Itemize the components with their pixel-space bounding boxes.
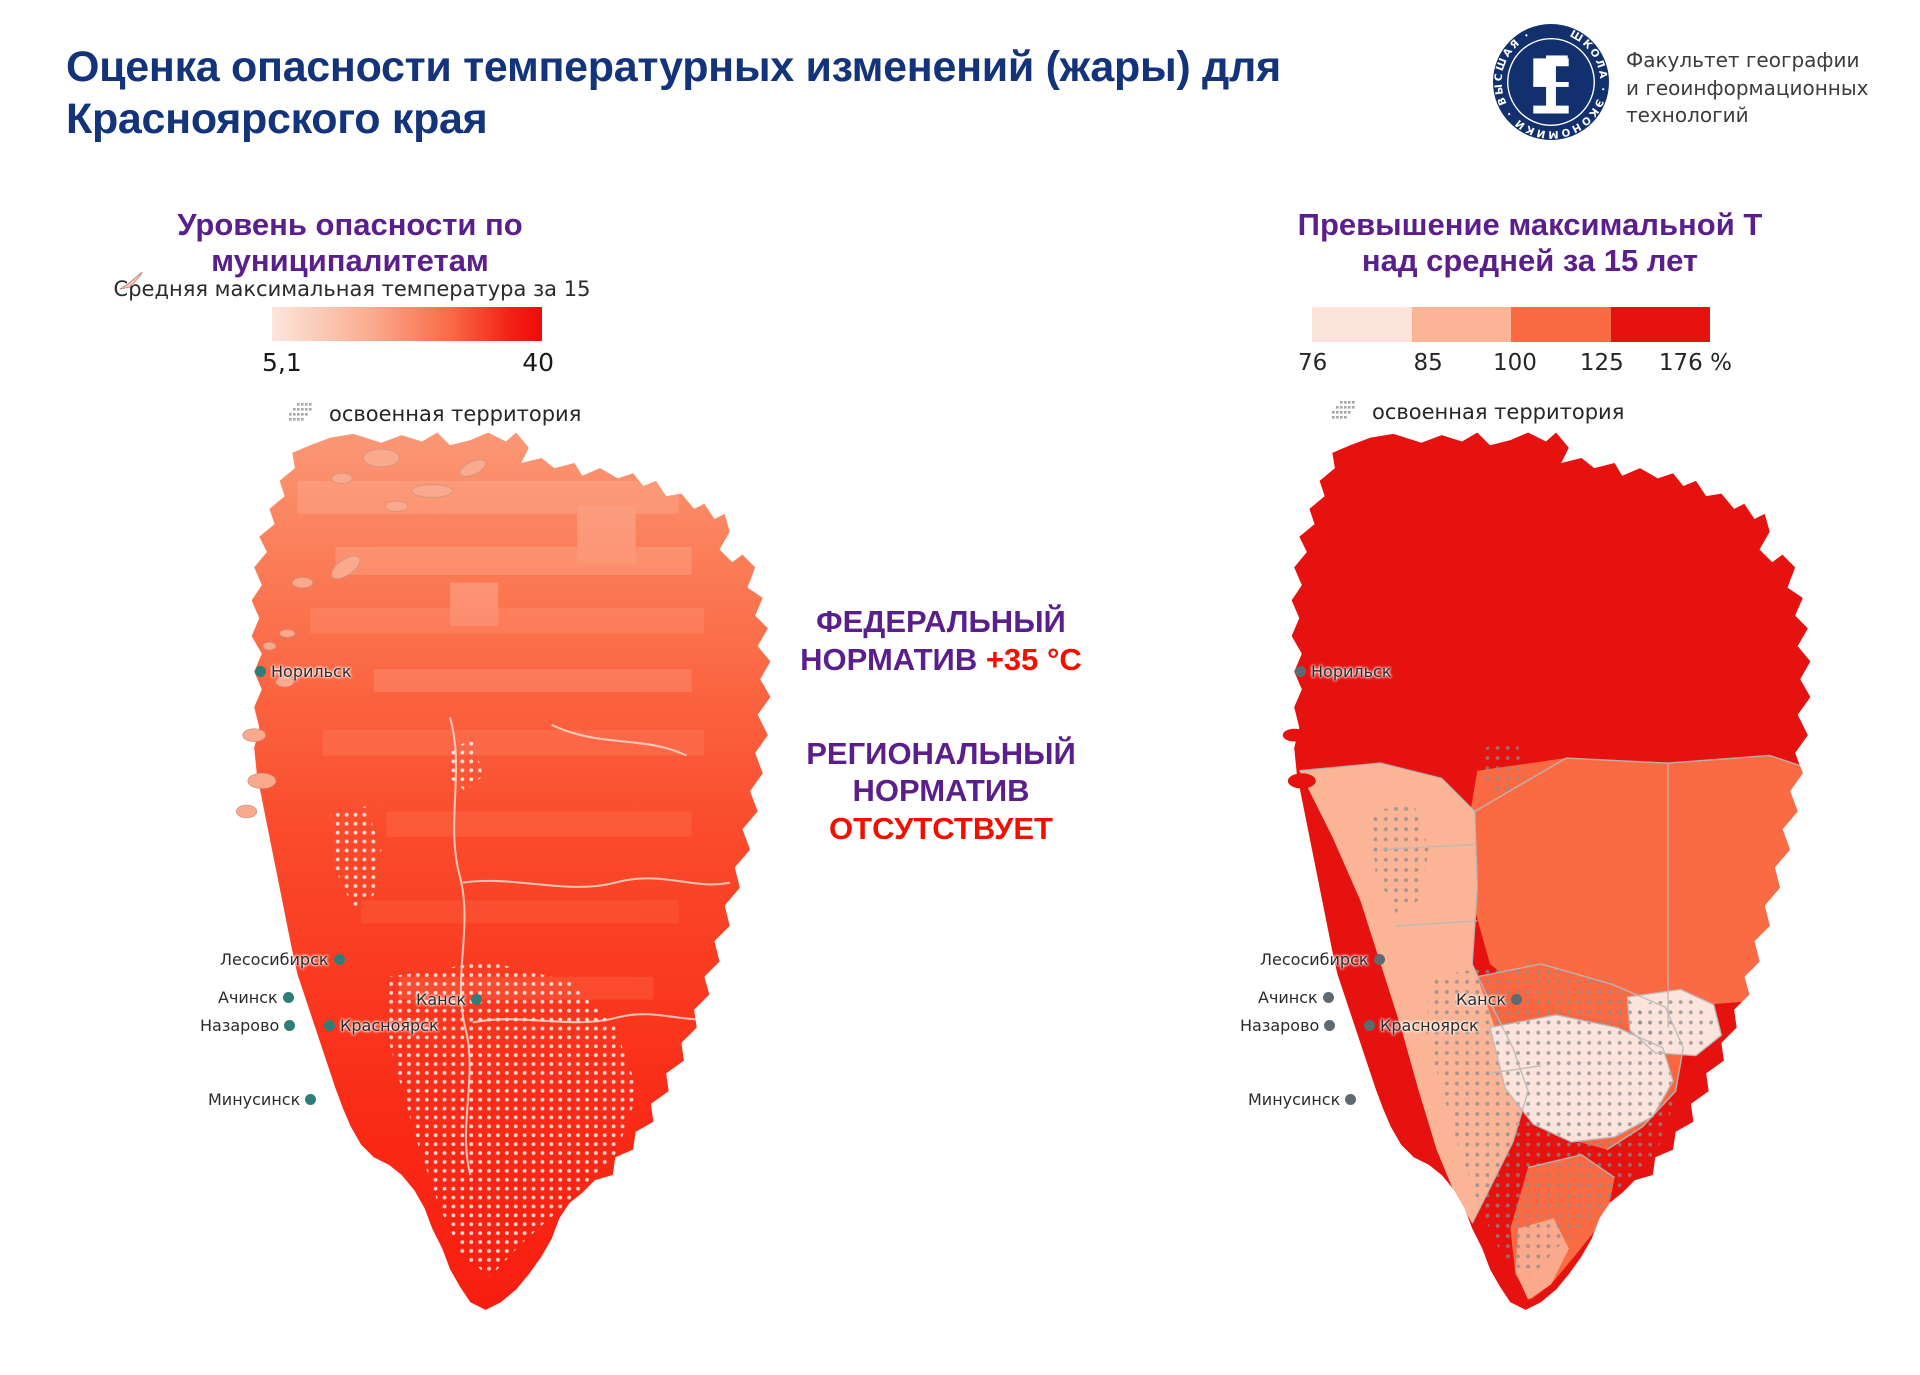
city-dot-icon: [1345, 1094, 1356, 1105]
left-legend-title: Уровень опасности по муниципалитетам: [90, 207, 610, 279]
city-dot-icon: [284, 1020, 295, 1031]
city-dot-icon: [1324, 1020, 1335, 1031]
class-label-1: 85: [1385, 350, 1472, 376]
city-marker-krasnoyarsk: Красноярск: [324, 1016, 439, 1035]
city-marker-norilsk: Норильск: [255, 662, 352, 681]
city-marker-norilsk: Норильск: [1295, 662, 1392, 681]
right-class-labels: 76 85 100 125 176 %: [1292, 350, 1732, 376]
city-marker-krasnoyarsk: Красноярск: [1364, 1016, 1479, 1035]
city-marker-kansk: Канск: [1456, 990, 1522, 1009]
city-marker-kansk: Канск: [416, 990, 482, 1009]
city-label: Лесосибирск: [220, 950, 329, 969]
left-developed-label: освоенная территория: [329, 402, 581, 426]
dotted-hatch-icon: [287, 400, 317, 428]
city-dot-icon: [334, 954, 345, 965]
city-label: Красноярск: [340, 1016, 439, 1035]
city-marker-achinsk: Ачинск: [218, 988, 294, 1007]
city-marker-lesosibirsk: Лесосибирск: [1260, 950, 1385, 969]
right-map-panel: Превышение максимальной Т над средней за…: [980, 0, 1920, 1375]
city-label: Красноярск: [1380, 1016, 1479, 1035]
city-marker-achinsk: Ачинск: [1258, 988, 1334, 1007]
slide-canvas: Оценка опасности температурных изменений…: [0, 0, 1920, 1375]
city-dot-icon: [1295, 666, 1306, 677]
left-developed-legend: освоенная территория: [287, 400, 581, 428]
right-developed-label: освоенная территория: [1372, 400, 1624, 424]
class-label-3: 125: [1558, 350, 1645, 376]
city-dot-icon: [1374, 954, 1385, 965]
city-dot-icon: [471, 994, 482, 1005]
city-label: Канск: [1456, 990, 1506, 1009]
pin-decor-icon: [118, 270, 144, 292]
right-developed-legend: освоенная территория: [1330, 398, 1624, 426]
right-class-legend: [1312, 307, 1710, 342]
city-label: Минусинск: [208, 1090, 300, 1109]
city-label: Назарово: [200, 1016, 279, 1035]
city-dot-icon: [283, 992, 294, 1003]
city-dot-icon: [1511, 994, 1522, 1005]
left-gradient-legend: [272, 307, 542, 341]
class-label-2: 100: [1472, 350, 1559, 376]
city-marker-nazarovo: Назарово: [1240, 1016, 1335, 1035]
class-swatch-2: [1412, 307, 1512, 342]
city-dot-icon: [1323, 992, 1334, 1003]
gradient-max-label: 40: [522, 348, 554, 377]
class-swatch-4: [1611, 307, 1711, 342]
city-label: Канск: [416, 990, 466, 1009]
city-label: Ачинск: [218, 988, 278, 1007]
city-dot-icon: [255, 666, 266, 677]
city-label: Ачинск: [1258, 988, 1318, 1007]
city-label: Минусинск: [1248, 1090, 1340, 1109]
class-swatch-3: [1511, 307, 1611, 342]
left-gradient-labels: 5,1 40: [262, 348, 554, 377]
dotted-hatch-icon: [1330, 398, 1360, 426]
left-map-stage: Норильск Лесосибирск Ачинск Назарово Кра…: [0, 430, 900, 1320]
class-label-0: 76: [1292, 350, 1385, 376]
right-legend-title: Превышение максимальной Т над средней за…: [1220, 207, 1840, 279]
class-label-4: 176 %: [1645, 350, 1732, 376]
city-label: Норильск: [1311, 662, 1392, 681]
city-marker-nazarovo: Назарово: [200, 1016, 295, 1035]
city-marker-minusinsk: Минусинск: [1248, 1090, 1356, 1109]
city-dot-icon: [305, 1094, 316, 1105]
right-choropleth-map[interactable]: [1040, 430, 1920, 1320]
right-map-stage: Норильск Лесосибирск Ачинск Назарово Кра…: [980, 430, 1920, 1320]
city-dot-icon: [1364, 1020, 1375, 1031]
city-label: Норильск: [271, 662, 352, 681]
city-marker-minusinsk: Минусинск: [208, 1090, 316, 1109]
city-label: Лесосибирск: [1260, 950, 1369, 969]
class-swatch-1: [1312, 307, 1412, 342]
city-label: Назарово: [1240, 1016, 1319, 1035]
city-dot-icon: [324, 1020, 335, 1031]
left-choropleth-map[interactable]: [0, 430, 900, 1320]
gradient-min-label: 5,1: [262, 348, 302, 377]
city-marker-lesosibirsk: Лесосибирск: [220, 950, 345, 969]
